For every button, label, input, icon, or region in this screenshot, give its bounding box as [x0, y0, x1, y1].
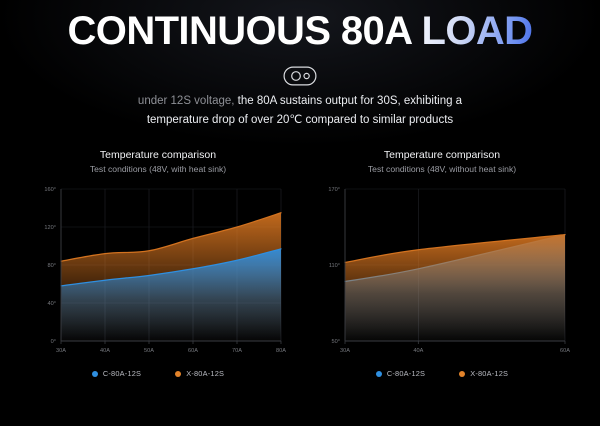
- legend-label: C-80A-12S: [387, 369, 425, 378]
- subtitle-emphasis: the 80A sustains output for 30S, exhibit…: [238, 95, 462, 107]
- legend-item-x80a[interactable]: X-80A-12S: [175, 369, 224, 378]
- x-tick-label: 40A: [413, 348, 423, 354]
- x-tick-label: 80A: [276, 348, 286, 354]
- x-tick-label: 70A: [232, 348, 242, 354]
- capsule-two-circles-icon: [283, 66, 317, 86]
- legend-item-c80a[interactable]: C-80A-12S: [376, 369, 425, 378]
- legend-item-x80a[interactable]: X-80A-12S: [459, 369, 508, 378]
- chart-legend-right: C-80A-12S X-80A-12S: [311, 369, 573, 378]
- legend-dot-orange: [459, 371, 465, 377]
- legend-dot-blue: [92, 371, 98, 377]
- panel-title: Temperature comparison: [27, 148, 289, 162]
- legend-item-c80a[interactable]: C-80A-12S: [92, 369, 141, 378]
- x-tick-label: 30A: [56, 348, 66, 354]
- x-tick-label: 40A: [100, 348, 110, 354]
- legend-label: X-80A-12S: [186, 369, 224, 378]
- chart-area-right: 50°110°170°30A40A60A: [311, 183, 573, 363]
- legend-dot-orange: [175, 371, 181, 377]
- y-tick-label: 120°: [44, 225, 56, 231]
- x-tick-label: 60A: [560, 348, 570, 354]
- chart-panel-with-heat-sink: Temperature comparison Test conditions (…: [27, 148, 289, 378]
- temperature-chart-left: 0°40°80°120°160°30A40A50A60A70A80A: [27, 183, 289, 363]
- page-title-accent: D: [504, 9, 532, 53]
- panel-subtitle: Test conditions (48V, with heat sink): [27, 163, 289, 176]
- x-tick-label: 50A: [144, 348, 154, 354]
- page-title-main: CONTINUOUS 80A LOA: [68, 9, 505, 53]
- y-tick-label: 160°: [44, 187, 56, 193]
- y-tick-label: 170°: [328, 187, 340, 193]
- y-tick-label: 80°: [48, 263, 56, 269]
- subtitle-line2: temperature drop of over 20℃ compared to…: [80, 111, 520, 130]
- y-tick-label: 40°: [48, 301, 56, 307]
- y-tick-label: 110°: [329, 263, 340, 269]
- panel-title: Temperature comparison: [311, 148, 573, 162]
- panel-subtitle: Test conditions (48V, without heat sink): [311, 163, 573, 176]
- subtitle-lead: under 12S voltage,: [138, 95, 238, 107]
- temperature-chart-right: 50°110°170°30A40A60A: [311, 183, 573, 363]
- chart-legend-left: C-80A-12S X-80A-12S: [27, 369, 289, 378]
- legend-dot-blue: [376, 371, 382, 377]
- chart-area-left: 0°40°80°120°160°30A40A50A60A70A80A: [27, 183, 289, 363]
- y-tick-label: 0°: [51, 339, 56, 345]
- slide-background: CONTINUOUS 80A LOAD under 12S voltage, t…: [0, 0, 600, 426]
- x-tick-label: 60A: [188, 348, 198, 354]
- legend-label: C-80A-12S: [103, 369, 141, 378]
- chart-panel-without-heat-sink: Temperature comparison Test conditions (…: [311, 148, 573, 378]
- x-tick-label: 30A: [340, 348, 350, 354]
- subtitle: under 12S voltage, the 80A sustains outp…: [80, 92, 520, 130]
- chart-panels: Temperature comparison Test conditions (…: [0, 148, 600, 378]
- capsule-two-circles-icon-wrap: [0, 66, 600, 86]
- page-title: CONTINUOUS 80A LOAD: [0, 11, 600, 51]
- y-tick-label: 50°: [332, 339, 340, 345]
- legend-label: X-80A-12S: [470, 369, 508, 378]
